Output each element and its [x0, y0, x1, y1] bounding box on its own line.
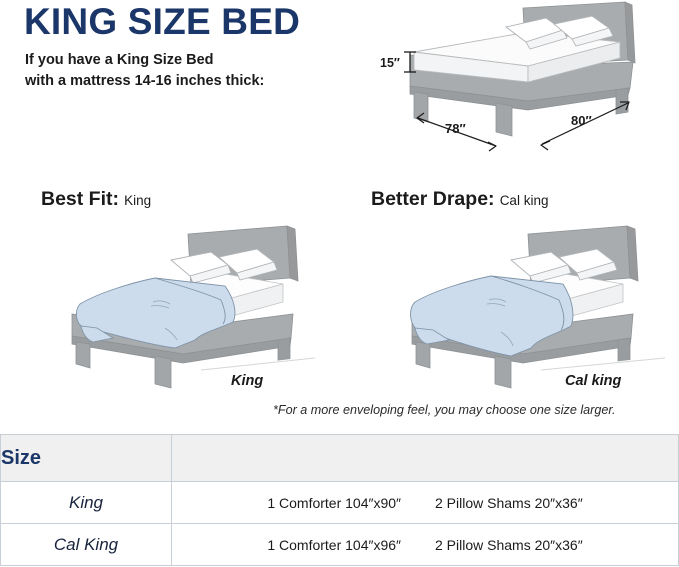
row-shams: 2 Pillow Shams 20″x36″ — [435, 495, 583, 511]
king-bed-dimension-diagram: 15″ 78″ 80″ — [378, 0, 679, 160]
best-fit-label: Best Fit: — [41, 188, 119, 210]
best-fit-value: King — [124, 193, 151, 208]
row-comforter: 1 Comforter 104″x96″ — [267, 537, 401, 553]
page-title: KING SIZE BED — [24, 2, 300, 43]
best-fit-bed-illustration: King — [25, 222, 345, 402]
table-row: King 1 Comforter 104″x90″ 2 Pillow Shams… — [1, 482, 679, 524]
row-shams: 2 Pillow Shams 20″x36″ — [435, 537, 583, 553]
better-drape-bed-illustration: Cal king — [365, 222, 679, 402]
column-header-items — [172, 435, 679, 482]
better-drape-heading: Better Drape: Cal king — [371, 188, 548, 211]
table-header-row: Size — [1, 435, 679, 482]
better-drape-value: Cal king — [500, 193, 549, 208]
better-drape-label: Better Drape: — [371, 188, 495, 210]
better-drape-bed-tag: Cal king — [565, 373, 622, 389]
row-comforter: 1 Comforter 104″x90″ — [267, 495, 401, 511]
page-subtitle: If you have a King Size Bed with a mattr… — [25, 50, 264, 91]
table-row: Cal King 1 Comforter 104″x96″ 2 Pillow S… — [1, 524, 679, 566]
footnote-text: *For a more enveloping feel, you may cho… — [273, 403, 616, 417]
row-items: 1 Comforter 104″x96″ 2 Pillow Shams 20″x… — [172, 524, 679, 566]
best-fit-bed-tag: King — [231, 373, 263, 389]
depth-dimension-label: 80″ — [571, 113, 592, 128]
row-size-name: King — [1, 482, 172, 524]
column-header-size: Size — [1, 435, 172, 482]
row-size-name: Cal King — [1, 524, 172, 566]
width-dimension-label: 78″ — [445, 121, 466, 136]
height-dimension-label: 15″ — [380, 56, 400, 70]
best-fit-heading: Best Fit: King — [41, 188, 151, 211]
size-chart-table: Size King 1 Comforter 104″x90″ 2 Pillow … — [0, 434, 679, 566]
row-items: 1 Comforter 104″x90″ 2 Pillow Shams 20″x… — [172, 482, 679, 524]
